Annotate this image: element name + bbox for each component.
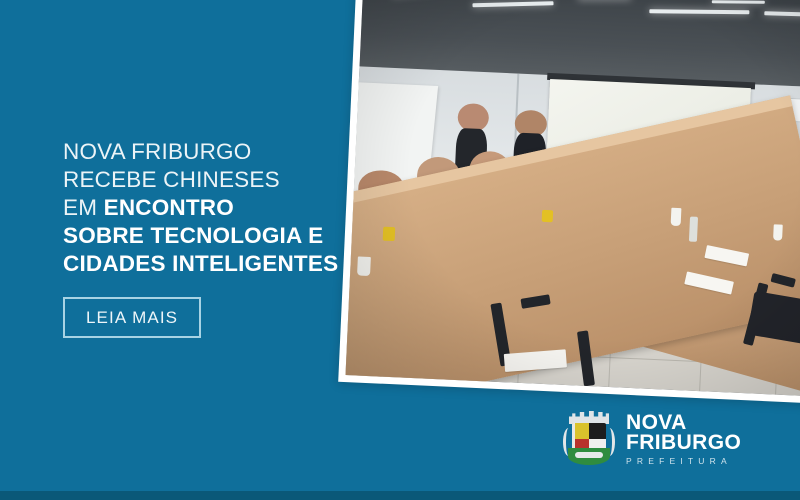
ceiling-light xyxy=(472,2,553,8)
bottom-accent-strip xyxy=(0,491,800,500)
ceiling-light xyxy=(712,0,765,4)
logo-wordmark: NOVA FRIBURGO PREFEITURA xyxy=(626,413,741,466)
event-photo xyxy=(346,0,800,397)
logo-subtitle: PREFEITURA xyxy=(626,456,741,466)
coat-of-arms-icon xyxy=(563,410,615,468)
page-title: NOVA FRIBURGO RECEBE CHINESES EM ENCONTR… xyxy=(63,138,363,278)
event-photo-frame xyxy=(338,0,800,404)
headline-line-1: NOVA FRIBURGO xyxy=(63,139,251,164)
headline-line-3-prefix: EM xyxy=(63,195,104,220)
headline-line-3-emphasis: ENCONTRO xyxy=(104,195,234,220)
crest-ribbon xyxy=(575,452,603,458)
logo-line-2: FRIBURGO xyxy=(626,433,741,453)
headline-block: NOVA FRIBURGO RECEBE CHINESES EM ENCONTR… xyxy=(63,138,363,338)
cup xyxy=(670,207,681,225)
promo-banner: NOVA FRIBURGO RECEBE CHINESES EM ENCONTR… xyxy=(0,0,800,500)
lanyard-badge xyxy=(542,210,553,222)
prefeitura-logo[interactable]: NOVA FRIBURGO PREFEITURA xyxy=(563,410,741,468)
logo-line-1: NOVA xyxy=(626,413,741,433)
water-bottle xyxy=(689,216,698,242)
cup xyxy=(773,224,783,241)
headline-line-4: SOBRE TECNOLOGIA E xyxy=(63,223,323,248)
ceiling-light xyxy=(649,9,749,14)
headline-line-2: RECEBE CHINESES xyxy=(63,167,280,192)
read-more-button[interactable]: LEIA MAIS xyxy=(63,297,201,338)
lanyard-badge xyxy=(382,226,395,241)
ceiling-light xyxy=(764,11,800,17)
headline-line-5: CIDADES INTELIGENTES xyxy=(63,251,338,276)
